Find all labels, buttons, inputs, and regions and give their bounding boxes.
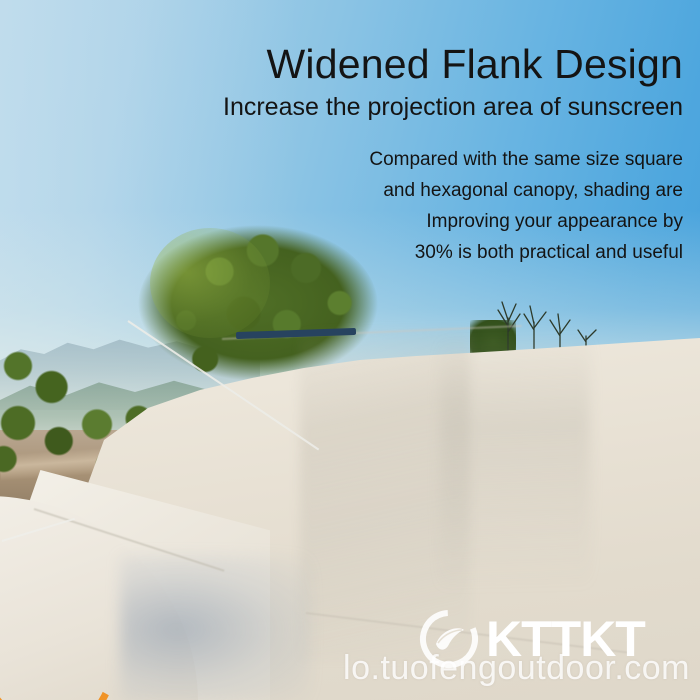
description-paragraph: Compared with the same size square and h… (123, 144, 683, 268)
description-line: Improving your appearance by (123, 206, 683, 237)
marketing-copy: Widened Flank Design Increase the projec… (123, 40, 683, 268)
leaf-circle-icon (418, 608, 480, 670)
page-subtitle: Increase the projection area of sunscree… (123, 90, 683, 124)
description-line: and hexagonal canopy, shading are (123, 175, 683, 206)
description-line: 30% is both practical and useful (123, 237, 683, 268)
description-line: Compared with the same size square (123, 144, 683, 175)
product-banner: Widened Flank Design Increase the projec… (0, 0, 700, 700)
brand-name: KTTKT (486, 613, 645, 665)
brand-logo: KTTKT (418, 608, 645, 670)
page-title: Widened Flank Design (123, 40, 683, 88)
canopy-fold-shadow-b (440, 338, 590, 588)
